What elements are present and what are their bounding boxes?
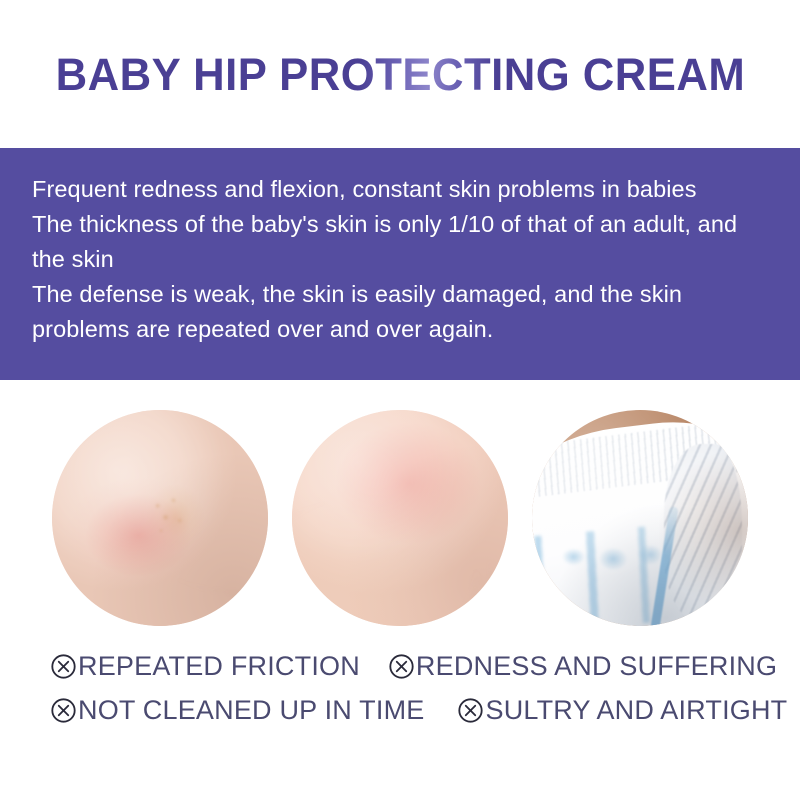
problem-item-not-cleaned-up-in-time: NOT CLEANED UP IN TIME — [50, 688, 424, 732]
photo-shading — [532, 410, 748, 626]
page-title: BABY HIP PROTECTING CREAM — [55, 52, 745, 97]
problem-label: NOT CLEANED UP IN TIME — [78, 697, 424, 724]
description-line-1: Frequent redness and flexion, constant s… — [32, 172, 770, 207]
problem-item-sultry-and-airtight: SULTRY AND AIRTIGHT — [457, 688, 787, 732]
photo-baby-diaper-closeup — [532, 410, 748, 626]
description-line-2: The thickness of the baby's skin is only… — [32, 207, 770, 277]
problem-item-redness-and-suffering: REDNESS AND SUFFERING — [388, 644, 777, 688]
problem-row: REPEATED FRICTION REDNESS AND SUFFERING — [0, 644, 800, 688]
circled-x-icon — [388, 653, 415, 680]
circled-x-icon — [50, 653, 77, 680]
problem-item-repeated-friction: REPEATED FRICTION — [50, 644, 360, 688]
problem-label: REDNESS AND SUFFERING — [416, 653, 777, 680]
title-area: BABY HIP PROTECTING CREAM — [0, 0, 800, 148]
photo-shading — [292, 410, 508, 626]
product-banner: BABY HIP PROTECTING CREAM Frequent redne… — [0, 0, 800, 800]
circled-x-icon — [50, 697, 77, 724]
photo-red-skin-thigh-fold-closeup — [292, 410, 508, 626]
photo-circle-group — [0, 410, 800, 626]
problem-row: NOT CLEANED UP IN TIME SULTRY AND AIRTIG… — [0, 688, 800, 732]
problem-label: SULTRY AND AIRTIGHT — [485, 697, 787, 724]
problem-list: REPEATED FRICTION REDNESS AND SUFFERING … — [0, 644, 800, 732]
photo-shading — [52, 410, 268, 626]
photo-irritated-skin-fold-closeup — [52, 410, 268, 626]
problem-label: REPEATED FRICTION — [78, 653, 360, 680]
circled-x-icon — [457, 697, 484, 724]
description-line-3: The defense is weak, the skin is easily … — [32, 277, 770, 347]
description-panel: Frequent redness and flexion, constant s… — [0, 148, 800, 380]
